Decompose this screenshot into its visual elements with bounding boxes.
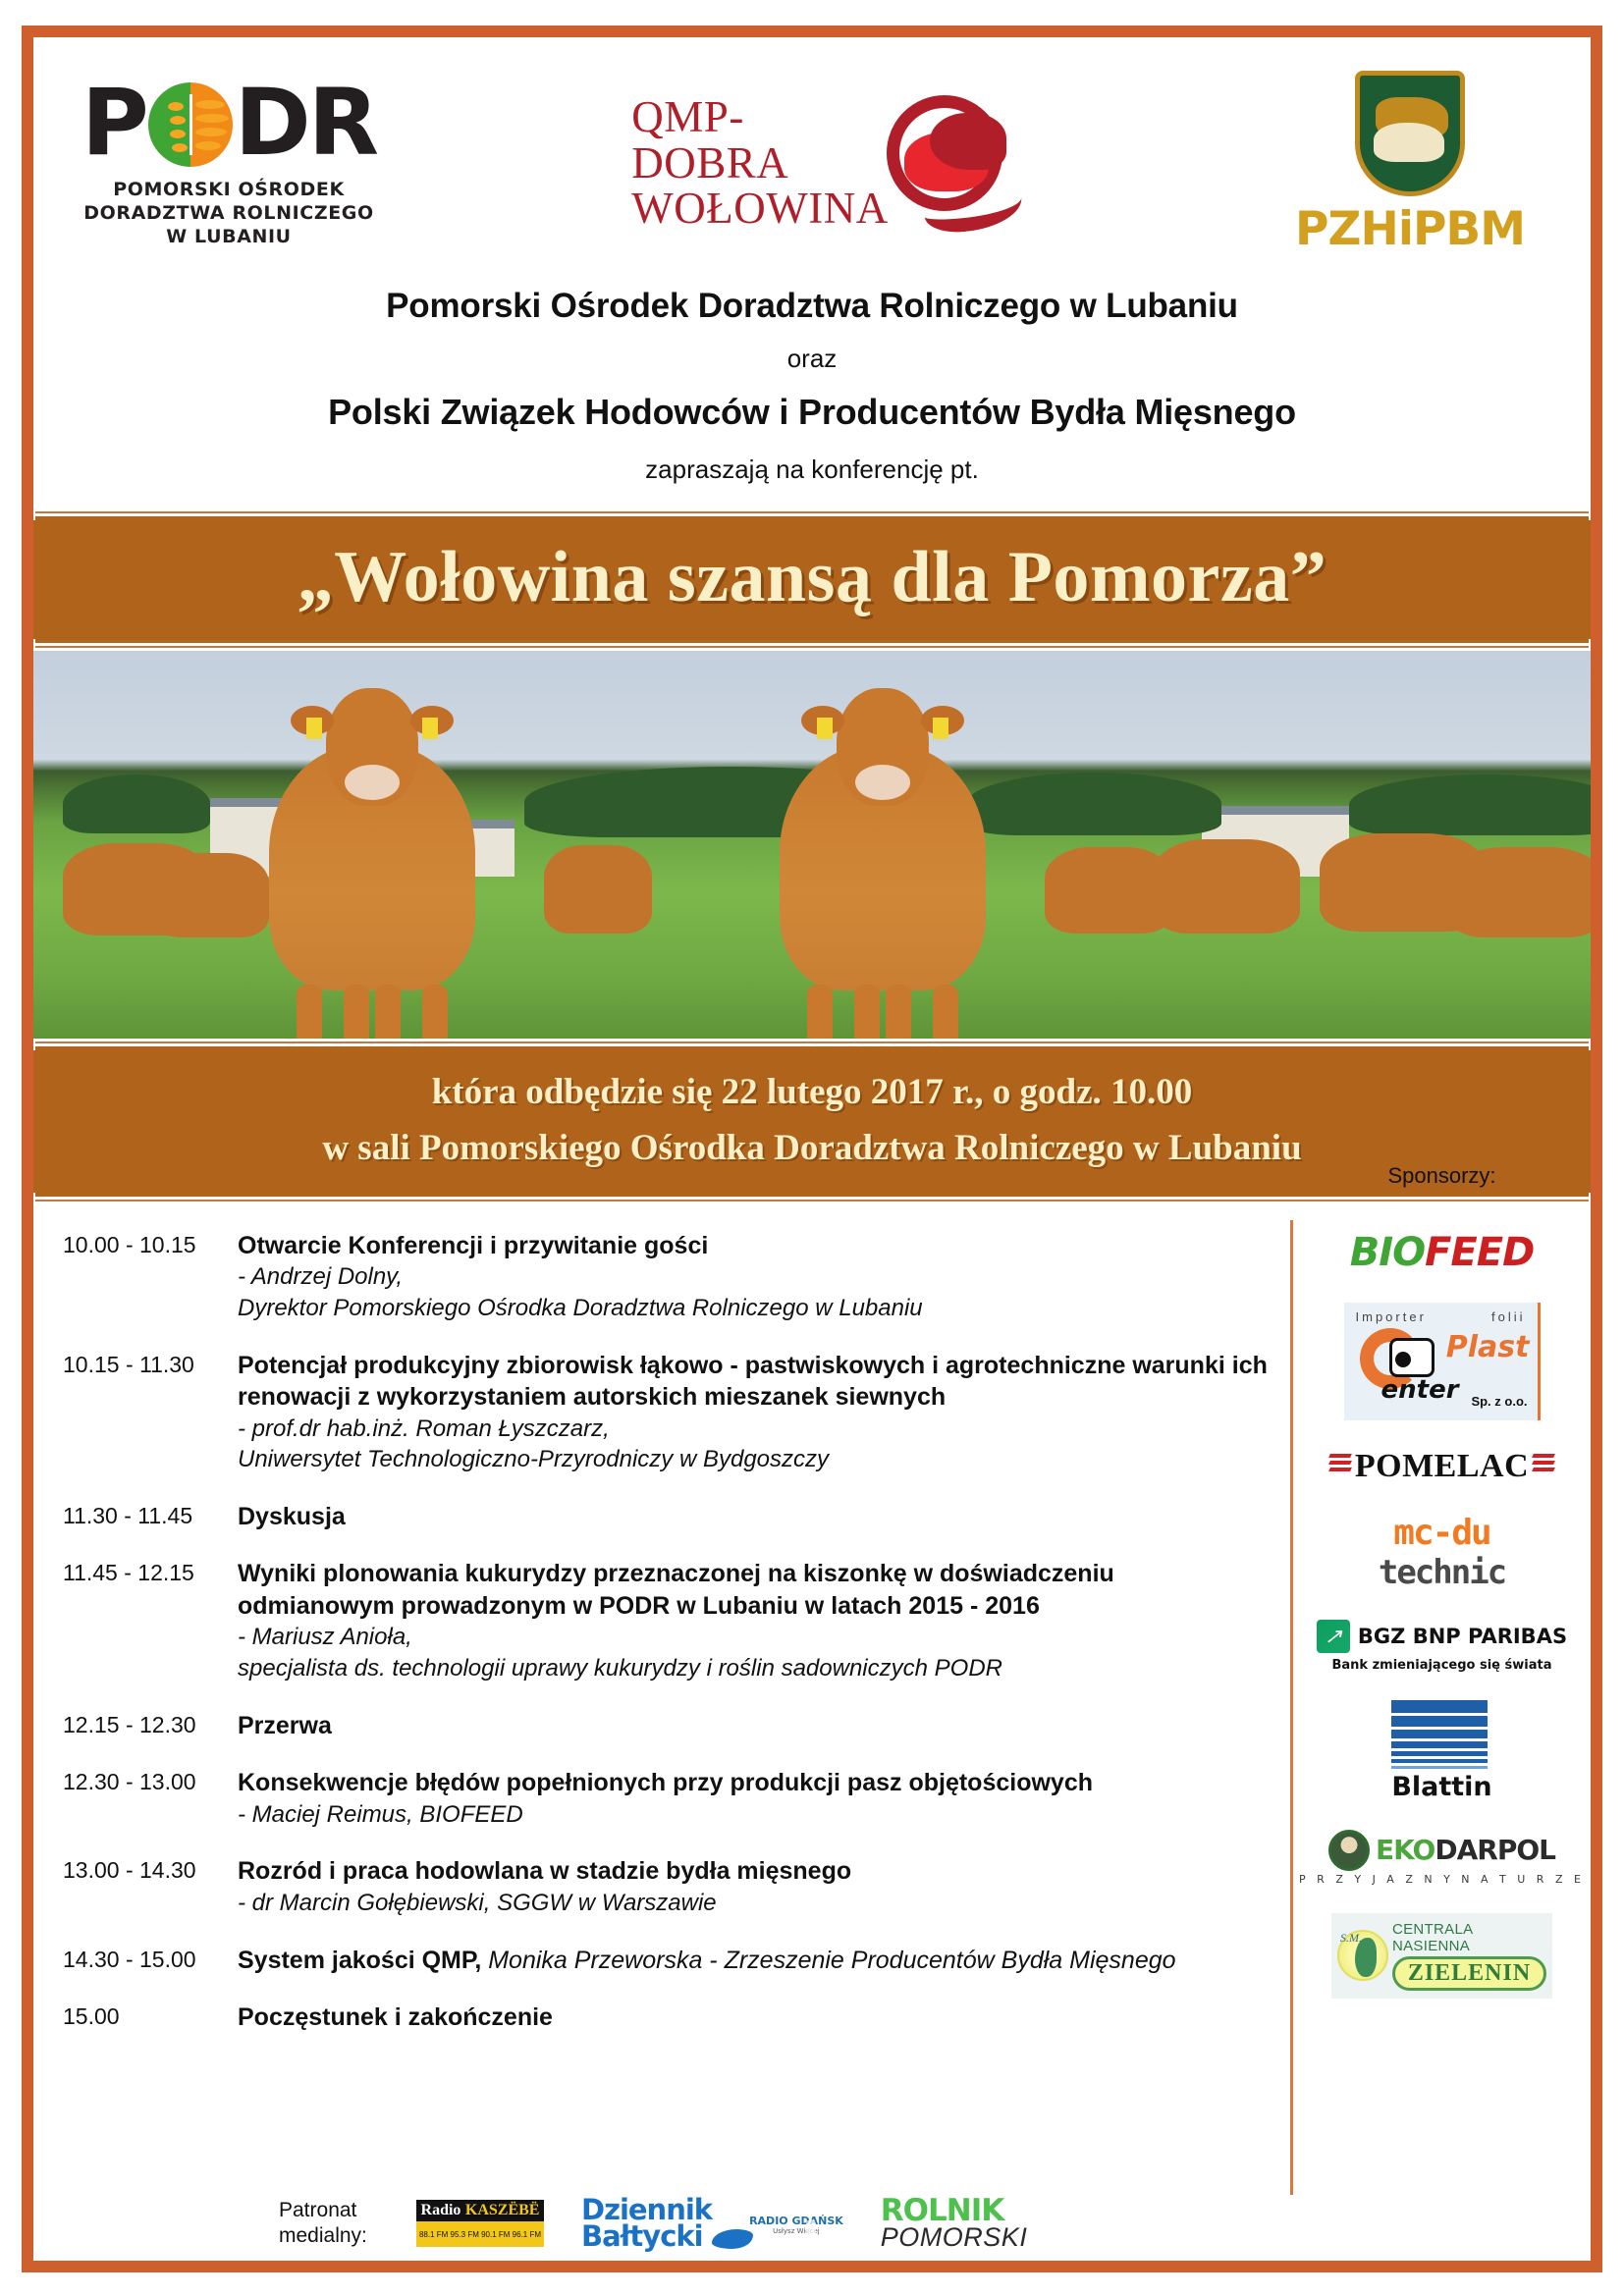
- sponsor-biofeed: BIOFEED: [1350, 1230, 1535, 1275]
- roll-core-icon: [1395, 1352, 1411, 1367]
- patron-radio-gdansk: RADIO GDAŃSK Usłysz Więcej: [749, 2212, 843, 2235]
- dziennik-line-2: Bałtycki: [581, 2223, 712, 2251]
- conference-title: „Wołowina szansą dla Pomorza”: [43, 536, 1581, 619]
- bnp-paribas-stars-icon: [1317, 1620, 1350, 1653]
- qmp-line-3: WOŁOWINA: [631, 186, 888, 231]
- plast-enter-word: enter: [1381, 1375, 1459, 1405]
- program-title: Rozród i praca hodowlana w stadzie bydła…: [238, 1855, 1276, 1888]
- program-title: Wyniki plonowania kukurydzy przeznaczone…: [238, 1558, 1276, 1622]
- ekodarpol-part-2: DARPOL: [1435, 1834, 1555, 1866]
- body-area: 10.00 - 10.15 Otwarcie Konferencji i prz…: [33, 1204, 1591, 2195]
- cow-foreground-left: [269, 745, 475, 990]
- program-time: 13.00 - 14.30: [63, 1855, 238, 1918]
- program-title: System jakości QMP, Monika Przeworska - …: [238, 1945, 1276, 1977]
- qmp-wordmark: QMP- DOBRA WOŁOWINA: [631, 94, 888, 231]
- program-speaker: - Mariusz Anioła,: [238, 1622, 1276, 1653]
- podr-subtitle-line-2: DORADZTWA ROLNICZEGO: [83, 201, 374, 225]
- program-row: 11.45 - 12.15 Wyniki plonowania kukurydz…: [63, 1558, 1276, 1683]
- media-patrons: Patronat medialny: Radio KASZËBË 88.1 FM…: [33, 2195, 1591, 2261]
- logo-row: P DR POMORSKI OŚRODEK DORADZTWA ROLNICZE…: [33, 37, 1591, 283]
- modu-line-2: technic: [1379, 1553, 1505, 1592]
- program-title: Otwarcie Konferencji i przywitanie gości: [238, 1230, 1276, 1262]
- organizer-conjunction: oraz: [73, 344, 1551, 374]
- zielenin-sm-mark: S.M.: [1340, 1931, 1362, 1946]
- program-time: 11.30 - 11.45: [63, 1501, 238, 1533]
- bgz-tagline: Bank zmieniającego się świata: [1317, 1658, 1567, 1673]
- program-title: Konsekwencje błędów popełnionych przy pr…: [238, 1767, 1276, 1799]
- program-row: 12.30 - 13.00 Konsekwencje błędów popełn…: [63, 1767, 1276, 1830]
- sponsors-column: Sponsorzy: BIOFEED Importer folii Plast …: [1290, 1220, 1591, 2195]
- rule-above-title: [35, 511, 1589, 513]
- program-affiliation: Uniwersytet Technologiczno-Przyrodniczy …: [238, 1444, 1276, 1475]
- biofeed-part-2: FEED: [1425, 1230, 1534, 1275]
- invitation-text: zapraszają na konferencję pt.: [73, 454, 1551, 485]
- patron-rolnik-pomorski: ROLNIK POMORSKI: [881, 2197, 1028, 2251]
- plast-top-left: Importer: [1356, 1309, 1427, 1324]
- sponsor-center-plast: Importer folii Plast enter Sp. z o.o.: [1344, 1303, 1541, 1420]
- plast-legal-form: Sp. z o.o.: [1471, 1394, 1527, 1409]
- podr-wheat-circle-icon: [148, 82, 233, 167]
- program-title: Potencjał produkcyjny zbiorowisk łąkowo …: [238, 1350, 1276, 1414]
- dziennik-wave-icon: [712, 2229, 753, 2249]
- rolnik-line-2: POMORSKI: [881, 2225, 1028, 2251]
- patron-label-line-2: medialny:: [279, 2223, 416, 2249]
- organizer-primary: Pomorski Ośrodek Doradztwa Rolniczego w …: [73, 287, 1551, 326]
- cow-foreground-right: [780, 745, 986, 990]
- blattin-word: Blattin: [1391, 1772, 1491, 1802]
- program-row: 10.00 - 10.15 Otwarcie Konferencji i prz…: [63, 1230, 1276, 1324]
- modu-line-1: mc-du: [1379, 1513, 1505, 1553]
- plast-top-right: folii: [1491, 1309, 1526, 1324]
- radio-gdansk-sub: Usłysz Więcej: [749, 2227, 843, 2235]
- rolnik-line-1: ROLNIK: [881, 2197, 1028, 2225]
- rule-below-when-thick: [35, 1193, 1589, 1197]
- program-title: Przerwa: [238, 1710, 1276, 1742]
- kaszebe-word-2: KASZËBË: [465, 2202, 540, 2218]
- sponsors-heading: Sponsorzy:: [1293, 1163, 1591, 1189]
- program-affiliation: specjalista ds. technologii uprawy kukur…: [238, 1653, 1276, 1684]
- kaszebe-frequencies: 88.1 FM 95.3 FM 90.1 FM 96.1 FM: [416, 2221, 544, 2247]
- program-title: Poczęstunek i zakończenie: [238, 2002, 1276, 2034]
- podr-letters-dr: DR: [235, 82, 376, 166]
- cattle-pasture-photo: [33, 651, 1591, 1039]
- organizers-block: Pomorski Ośrodek Doradztwa Rolniczego w …: [33, 283, 1591, 508]
- patron-radio-kaszebe: Radio KASZËBË 88.1 FM 95.3 FM 90.1 FM 96…: [416, 2200, 544, 2247]
- biofeed-part-1: BIO: [1350, 1230, 1425, 1275]
- plast-word: Plast: [1446, 1330, 1530, 1364]
- program-speaker: - Andrzej Dolny,: [238, 1261, 1276, 1293]
- cow-background-7: [1447, 847, 1591, 937]
- program-time: 14.30 - 15.00: [63, 1945, 238, 1977]
- patron-label: Patronat medialny:: [279, 2198, 416, 2250]
- podr-subtitle-line-1: POMORSKI OŚRODEK: [83, 178, 374, 201]
- podr-wordmark: P DR: [81, 78, 376, 172]
- program-row: 11.30 - 11.45 Dyskusja: [63, 1501, 1276, 1533]
- program-title-speaker: Monika Przeworska - Zrzeszenie Producent…: [481, 1947, 1175, 1974]
- sponsor-blattin: Blattin: [1391, 1700, 1491, 1802]
- program-row: 10.15 - 11.30 Potencjał produkcyjny zbio…: [63, 1350, 1276, 1475]
- rule-above-when: [35, 1041, 1589, 1043]
- sponsor-bgz-bnp-paribas: BGZ BNP PARIBAS Bank zmieniającego się ś…: [1317, 1620, 1567, 1673]
- podr-letter-p: P: [81, 82, 146, 166]
- pomelac-dash-right-icon: [1533, 1454, 1554, 1475]
- bgz-name: BGZ BNP PARIBAS: [1358, 1625, 1567, 1648]
- program-speaker: - dr Marcin Gołębiewski, SGGW w Warszawi…: [238, 1888, 1276, 1919]
- pomelac-word: POMELAC: [1355, 1448, 1529, 1484]
- qmp-line-2: DOBRA: [631, 140, 888, 186]
- podr-logo: P DR POMORSKI OŚRODEK DORADZTWA ROLNICZE…: [67, 78, 391, 249]
- cow-background-3: [544, 845, 652, 934]
- program-time: 11.45 - 12.15: [63, 1558, 238, 1683]
- program-row: 13.00 - 14.30 Rozród i praca hodowlana w…: [63, 1855, 1276, 1918]
- program-speaker: - prof.dr hab.inż. Roman Łyszczarz,: [238, 1414, 1276, 1445]
- program-time: 12.15 - 12.30: [63, 1710, 238, 1742]
- zielenin-top-text: CENTRALA NASIENNA: [1392, 1921, 1546, 1954]
- program-speaker: - Maciej Reimus, BIOFEED: [238, 1799, 1276, 1831]
- organizer-secondary: Polski Związek Hodowców i Producentów By…: [73, 392, 1551, 433]
- program-title-text: System jakości QMP,: [238, 1947, 481, 1974]
- radio-gdansk-label: RADIO GDAŃSK: [749, 2215, 843, 2227]
- program-schedule: 10.00 - 10.15 Otwarcie Konferencji i prz…: [33, 1220, 1290, 2195]
- program-affiliation: Dyrektor Pomorskiego Ośrodka Doradztwa R…: [238, 1293, 1276, 1324]
- cow-background-5: [1153, 839, 1300, 934]
- title-banner: „Wołowina szansą dla Pomorza”: [33, 520, 1591, 639]
- patron-label-line-1: Patronat: [279, 2198, 416, 2223]
- patron-dziennik-baltycki: Dziennik Bałtycki: [581, 2197, 712, 2251]
- poster: P DR POMORSKI OŚRODEK DORADZTWA ROLNICZE…: [0, 0, 1624, 2296]
- pomelac-dash-left-icon: [1329, 1454, 1351, 1475]
- rule-below-when: [35, 1200, 1589, 1201]
- conference-datetime: która odbędzie się 22 lutego 2017 r., o …: [43, 1064, 1581, 1120]
- qmp-line-1: QMP-: [631, 94, 888, 139]
- pzhipbm-name: PZHiPBM: [1295, 202, 1525, 256]
- qmp-logo: QMP- DOBRA WOŁOWINA: [391, 89, 1263, 237]
- program-title: Dyskusja: [238, 1501, 1276, 1533]
- sponsor-zielenin: S.M. CENTRALA NASIENNA ZIELENIN: [1331, 1913, 1552, 1999]
- rule-below-title-thick: [35, 639, 1589, 643]
- program-row: 12.15 - 12.30 Przerwa: [63, 1710, 1276, 1742]
- patron-logo-list: Radio KASZËBË 88.1 FM 95.3 FM 90.1 FM 96…: [416, 2197, 1027, 2251]
- sponsor-ekodarpol: EKODARPOL P R Z Y J A Z N Y N A T U R Z …: [1299, 1830, 1585, 1886]
- qmp-bull-q-icon: [875, 89, 1022, 237]
- program-row: 15.00 Poczęstunek i zakończenie: [63, 2002, 1276, 2034]
- podr-subtitle-line-3: W LUBANIU: [83, 225, 374, 248]
- kaszebe-word-1: Radio: [421, 2202, 461, 2218]
- pzhipbm-logo: PZHiPBM: [1263, 71, 1557, 256]
- pzhipbm-shield-icon: [1355, 71, 1465, 196]
- program-time: 15.00: [63, 2002, 238, 2034]
- cow-background-2: [151, 853, 269, 937]
- ekodarpol-part-1: EKO: [1376, 1834, 1435, 1866]
- program-time: 12.30 - 13.00: [63, 1767, 238, 1830]
- sponsor-modu-technic: mc-du technic: [1379, 1513, 1505, 1592]
- zielenin-name: ZIELENIN: [1392, 1956, 1546, 1991]
- rule-below-title: [35, 646, 1589, 648]
- poster-frame: P DR POMORSKI OŚRODEK DORADZTWA ROLNICZE…: [22, 26, 1602, 2272]
- ekodarpol-portrait-icon: [1328, 1830, 1370, 1871]
- podr-subtitle: POMORSKI OŚRODEK DORADZTWA ROLNICZEGO W …: [83, 178, 374, 249]
- blattin-bars-icon: [1391, 1700, 1488, 1769]
- program-row: 14.30 - 15.00 System jakości QMP, Monika…: [63, 1945, 1276, 1977]
- sponsor-pomelac: POMELAC: [1329, 1448, 1554, 1485]
- program-time: 10.00 - 10.15: [63, 1230, 238, 1324]
- program-time: 10.15 - 11.30: [63, 1350, 238, 1475]
- ekodarpol-tagline: P R Z Y J A Z N Y N A T U R Z E: [1299, 1873, 1585, 1886]
